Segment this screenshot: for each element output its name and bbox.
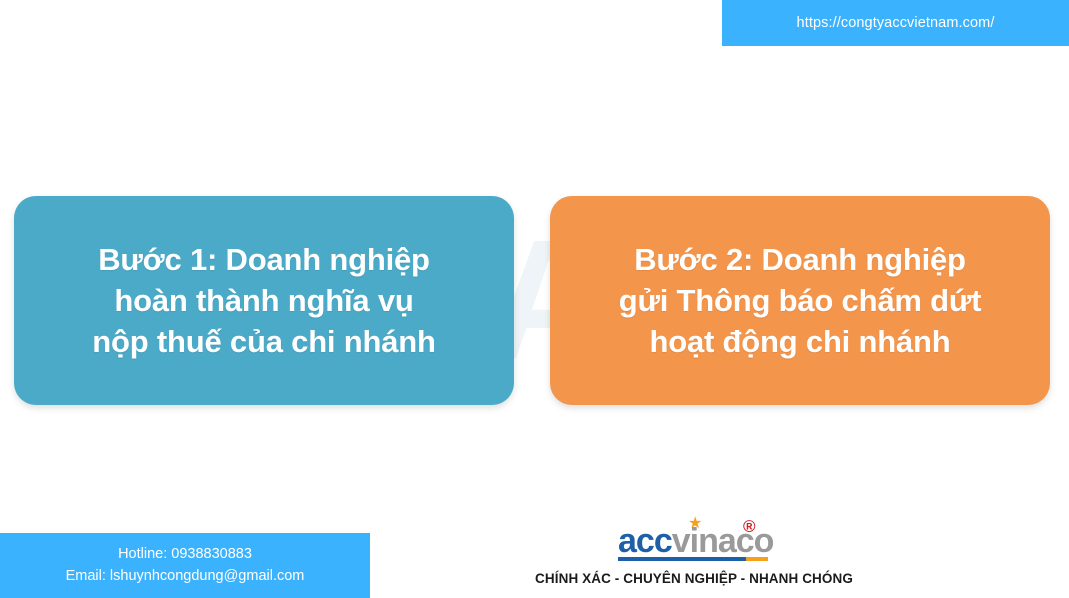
url-banner-text[interactable]: https://congtyaccvietnam.com/ [797, 15, 995, 31]
logo-tagline: CHÍNH XÁC - CHUYÊN NGHIỆP - NHANH CHÓNG [535, 571, 853, 586]
footer-logo: accvinaco ★ ® CHÍNH XÁC - CHUYÊN NGHIỆP … [548, 518, 840, 596]
star-icon: ★ [688, 516, 702, 532]
step-2-text: Bước 2: Doanh nghiệp gửi Thông báo chấm … [619, 239, 982, 363]
contact-info-box: Hotline: 0938830883 Email: lshuynhcongdu… [0, 533, 370, 598]
logo-underline-accent [746, 557, 768, 561]
step-1-text: Bước 1: Doanh nghiệp hoàn thành nghĩa vụ… [92, 239, 436, 363]
step-box-1: Bước 1: Doanh nghiệp hoàn thành nghĩa vụ… [14, 196, 514, 405]
url-banner: https://congtyaccvietnam.com/ [722, 0, 1069, 46]
logo-text-acc: acc [618, 522, 672, 560]
logo-text-vinaco: vinaco [672, 522, 774, 560]
logo-mark: accvinaco ★ ® [610, 518, 778, 564]
registered-trademark-icon: ® [743, 518, 756, 535]
step-box-2: Bước 2: Doanh nghiệp gửi Thông báo chấm … [550, 196, 1050, 405]
steps-container: Bước 1: Doanh nghiệp hoàn thành nghĩa vụ… [0, 0, 1069, 598]
contact-hotline: Hotline: 0938830883 [118, 544, 252, 565]
slide-canvas: VINACO https://congtyaccvietnam.com/ Bướ… [0, 0, 1069, 598]
contact-email: Email: lshuynhcongdung@gmail.com [66, 566, 305, 587]
